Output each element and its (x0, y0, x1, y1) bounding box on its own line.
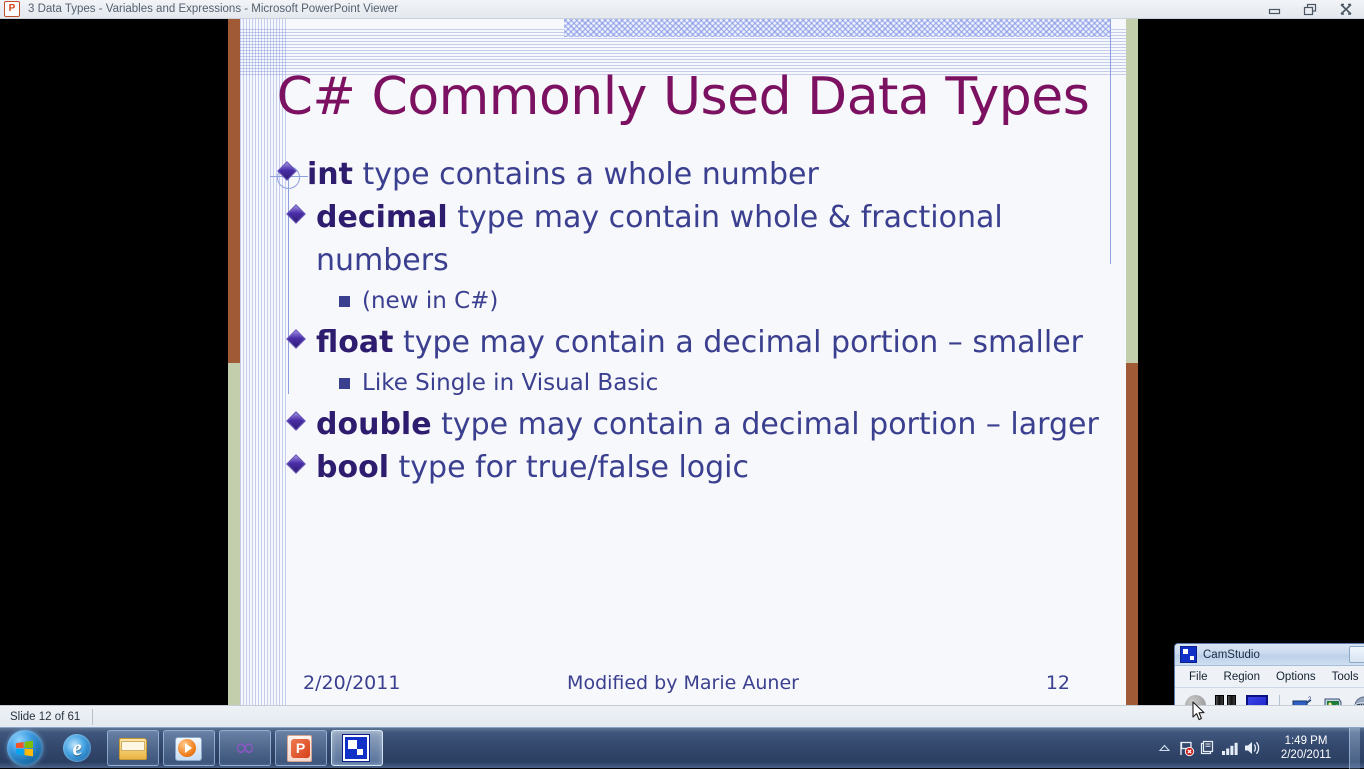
media-player-icon (175, 734, 203, 762)
slide-title: C# Commonly Used Data Types (240, 67, 1126, 127)
bullet-text: double type may contain a decimal portio… (316, 403, 1118, 446)
diamond-bullet-icon (279, 163, 300, 184)
bullet-body: type may contain a decimal portion – lar… (432, 407, 1099, 442)
bullet-keyword: int (307, 157, 353, 192)
taskbar-item-media-player[interactable] (163, 730, 215, 766)
menu-tools[interactable]: Tools (1324, 671, 1364, 683)
menu-region[interactable]: Region (1216, 671, 1268, 683)
bullet-text: Like Single in Visual Basic (362, 364, 1118, 403)
bullet-text: int type contains a whole number (307, 153, 1118, 196)
bullet-text: bool type for true/false logic (316, 446, 1118, 489)
diamond-bullet-icon (288, 456, 309, 477)
camstudio-icon (343, 734, 371, 762)
diamond-bullet-icon (288, 331, 309, 352)
visual-studio-icon: ∞ (231, 734, 259, 762)
system-tray[interactable]: 1:49 PM 2/20/2011 (1153, 728, 1364, 768)
bullet-text: decimal type may contain whole & fractio… (316, 196, 1118, 282)
taskbar-clock[interactable]: 1:49 PM 2/20/2011 (1263, 734, 1349, 762)
clock-date: 2/20/2011 (1265, 748, 1347, 762)
bullet-item: decimal type may contain whole & fractio… (288, 196, 1118, 282)
internet-explorer-icon (61, 732, 93, 764)
slide-number: 12 (1046, 672, 1070, 694)
bullet-keyword: double (316, 407, 432, 442)
network-signal-icon[interactable] (1219, 728, 1241, 769)
bullet-text: float type may contain a decimal portion… (316, 321, 1118, 364)
bullet-keyword: float (316, 325, 393, 360)
taskbar-item-powerpoint[interactable] (275, 730, 327, 766)
bullet-item: int type contains a whole number (279, 153, 1118, 196)
camstudio-title: CamStudio (1203, 649, 1260, 661)
start-button[interactable] (2, 729, 47, 767)
folder-icon (119, 734, 147, 762)
clock-time: 1:49 PM (1265, 734, 1347, 748)
slide-footer-text: Modified by Marie Auner (228, 672, 1138, 694)
action-center-flag-icon[interactable] (1175, 728, 1197, 769)
square-bullet-icon (339, 378, 350, 389)
taskbar-item-internet-explorer[interactable] (51, 730, 103, 766)
slide-bullet-list: int type contains a whole number decimal… (288, 153, 1118, 489)
diamond-bullet-icon (288, 206, 309, 227)
bullet-item: float type may contain a decimal portion… (288, 321, 1118, 364)
slide-content: C# Commonly Used Data Types int type con… (228, 19, 1138, 705)
diamond-bullet-icon (288, 413, 309, 434)
bullet-keyword: decimal (316, 200, 448, 235)
bullet-item: (new in C#) (339, 282, 1118, 321)
volume-speaker-icon[interactable] (1241, 728, 1263, 769)
close-button[interactable] (1328, 0, 1364, 19)
minimize-button[interactable] (1256, 0, 1292, 19)
show-desktop-button[interactable] (1349, 728, 1360, 769)
svg-text:2: 2 (1308, 697, 1312, 703)
slide-counter: Slide 12 of 61 (0, 711, 92, 723)
menu-options[interactable]: Options (1268, 671, 1324, 683)
powerpoint-slide[interactable]: C# Commonly Used Data Types int type con… (228, 19, 1138, 705)
removable-media-icon[interactable] (1197, 728, 1219, 769)
bullet-text: (new in C#) (362, 282, 1118, 321)
camstudio-minimize-button[interactable] (1349, 646, 1364, 663)
camstudio-menubar[interactable]: File Region Options Tools (1175, 666, 1364, 688)
slide-footer: 2/20/2011 Modified by Marie Auner 12 (228, 672, 1138, 696)
bullet-body: type for true/false logic (389, 450, 749, 485)
bullet-body: type contains a whole number (353, 157, 819, 192)
windows-logo-icon (7, 730, 43, 766)
powerpoint-icon: P (4, 1, 20, 17)
taskbar-item-camstudio[interactable] (331, 730, 383, 766)
statusbar-divider (92, 709, 93, 725)
windows-taskbar[interactable]: ∞ (0, 727, 1364, 768)
square-bullet-icon (339, 296, 350, 307)
powerpoint-icon (287, 734, 315, 762)
menu-file[interactable]: File (1181, 671, 1216, 683)
bullet-item: bool type for true/false logic (288, 446, 1118, 489)
window-titlebar[interactable]: P 3 Data Types - Variables and Expressio… (0, 0, 1364, 19)
powerpoint-statusbar: Slide 12 of 61 (0, 705, 1364, 727)
bullet-item: double type may contain a decimal portio… (288, 403, 1118, 446)
show-hidden-icons-chevron[interactable] (1153, 728, 1175, 769)
taskbar-item-visual-studio[interactable]: ∞ (219, 730, 271, 766)
camstudio-titlebar[interactable]: CamStudio (1175, 644, 1364, 666)
restore-button[interactable] (1292, 0, 1328, 19)
taskbar-item-windows-explorer[interactable] (107, 730, 159, 766)
camstudio-icon (1180, 646, 1197, 663)
window-title: 3 Data Types - Variables and Expressions… (28, 3, 398, 15)
bullet-keyword: bool (316, 450, 389, 485)
bullet-body: type may contain a decimal portion – sma… (393, 325, 1083, 360)
window-controls (1256, 0, 1364, 18)
bullet-item: Like Single in Visual Basic (339, 364, 1118, 403)
